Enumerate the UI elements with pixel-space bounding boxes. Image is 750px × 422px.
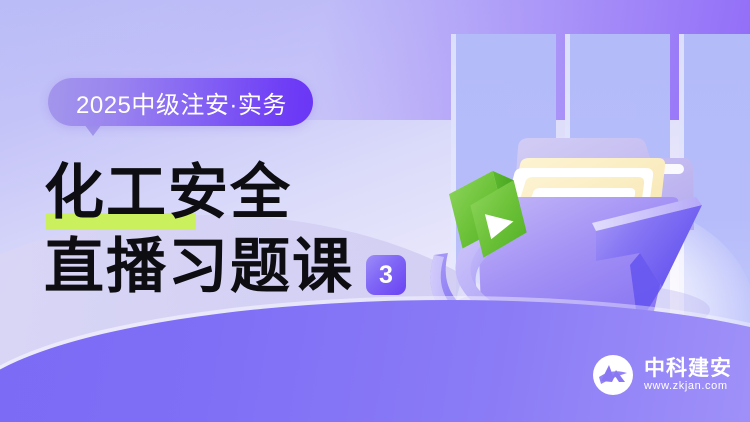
- title-secondary: 直播习题课: [44, 231, 354, 303]
- brand-name: 中科建安: [644, 358, 732, 379]
- episode-number-badge: 3: [366, 255, 406, 295]
- course-category-badge: 2025中级注安·实务: [48, 78, 313, 126]
- banner-title-block: 化工安全 直播习题课 3: [44, 155, 464, 303]
- title-line-1: 化工安全: [44, 155, 464, 229]
- zkjan-circle-logo-icon: [592, 354, 634, 396]
- title-line-2: 直播习题课 3: [44, 229, 464, 303]
- brand-logo[interactable]: 中科建安 www.zkjan.com: [592, 354, 732, 396]
- title-primary: 化工安全: [44, 157, 292, 229]
- course-category-label: 2025中级注安·实务: [76, 85, 287, 120]
- banner-text-content: 2025中级注安·实务 化工安全 直播习题课 3: [0, 0, 460, 422]
- course-promo-banner: 2025中级注安·实务 化工安全 直播习题课 3 中科建安 www.zkjan.…: [0, 0, 750, 422]
- brand-url: www.zkjan.com: [644, 381, 732, 392]
- brand-logo-text: 中科建安 www.zkjan.com: [644, 358, 732, 392]
